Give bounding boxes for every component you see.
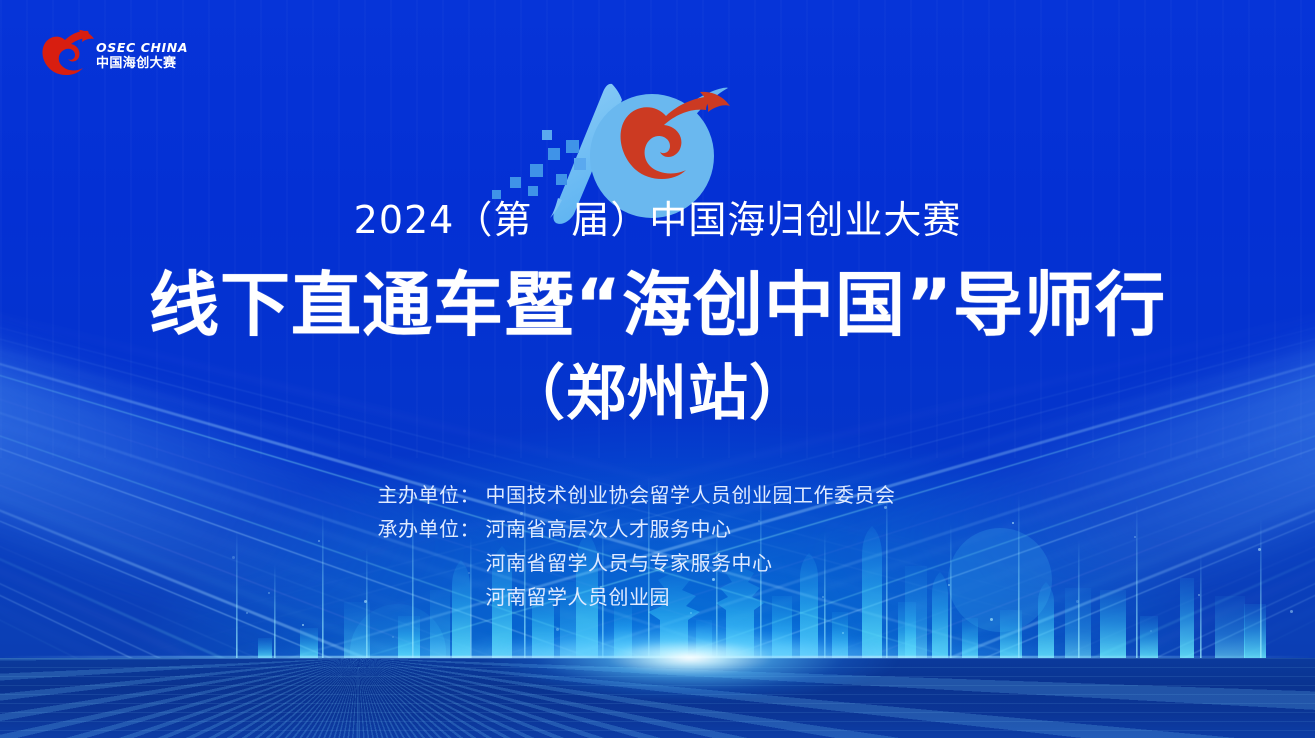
organizer-row: 主办单位： 中国技术创业协会留学人员创业园工作委员会 [378, 478, 938, 512]
poster-stage: OSEC CHINA 中国海创大赛 [0, 0, 1315, 738]
logo-chinese-text: 中国海创大赛 [96, 57, 174, 72]
particle-dot [302, 624, 304, 626]
organizer-row: 河南留学人员创业园 [378, 580, 938, 614]
organizer-value: 河南留学人员创业园 [486, 580, 938, 614]
horizon-glow [410, 598, 970, 718]
organizer-label: 主办单位： [378, 478, 486, 512]
osec-china-logo[interactable]: OSEC CHINA 中国海创大赛 [38, 28, 168, 88]
organizer-value: 河南省留学人员与专家服务中心 [486, 546, 938, 580]
logo-english-text: OSEC CHINA [96, 42, 174, 55]
flame-logo-icon [38, 28, 96, 80]
particle-dot [990, 618, 993, 621]
organizer-value: 中国技术创业协会留学人员创业园工作委员会 [486, 478, 938, 512]
organizer-block: 主办单位： 中国技术创业协会留学人员创业园工作委员会 承办单位： 河南省高层次人… [0, 478, 1315, 614]
logo-wordmark: OSEC CHINA 中国海创大赛 [96, 42, 174, 71]
event-headline-city: （郑州站） [0, 360, 1315, 429]
organizer-value: 河南省高层次人才服务中心 [486, 512, 938, 546]
organizer-row: 河南省留学人员与专家服务中心 [378, 546, 938, 580]
particle-dot [392, 636, 394, 638]
particle-dot [1150, 630, 1152, 632]
event-headline: 线下直通车暨“海创中国”导师行 [0, 265, 1315, 346]
organizer-label: 承办单位： [378, 512, 486, 546]
event-subtitle: 2024（第 届）中国海归创业大赛 [0, 198, 1315, 244]
organizer-row: 承办单位： 河南省高层次人才服务中心 [378, 512, 938, 546]
